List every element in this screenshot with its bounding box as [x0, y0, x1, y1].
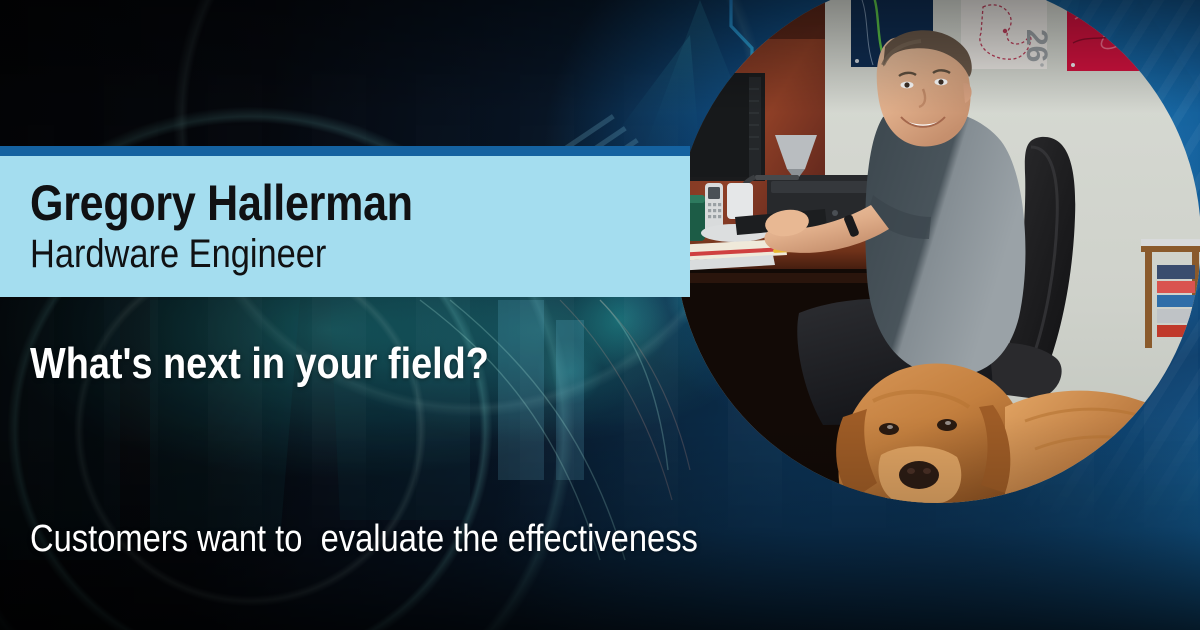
quote-block: What's next in your field? Customers wan… — [30, 340, 790, 630]
prompt-answer-line-1: Customers want to evaluate the effective… — [30, 514, 684, 564]
prompt-answer: Customers want to evaluate the effective… — [30, 414, 684, 630]
prompt-question: What's next in your field? — [30, 340, 684, 388]
name-banner: Gregory Hallerman Hardware Engineer — [0, 156, 690, 297]
employee-spotlight-card: 13.2 26 — [0, 0, 1200, 630]
person-role: Hardware Engineer — [30, 232, 598, 277]
person-name: Gregory Hallerman — [30, 176, 598, 230]
